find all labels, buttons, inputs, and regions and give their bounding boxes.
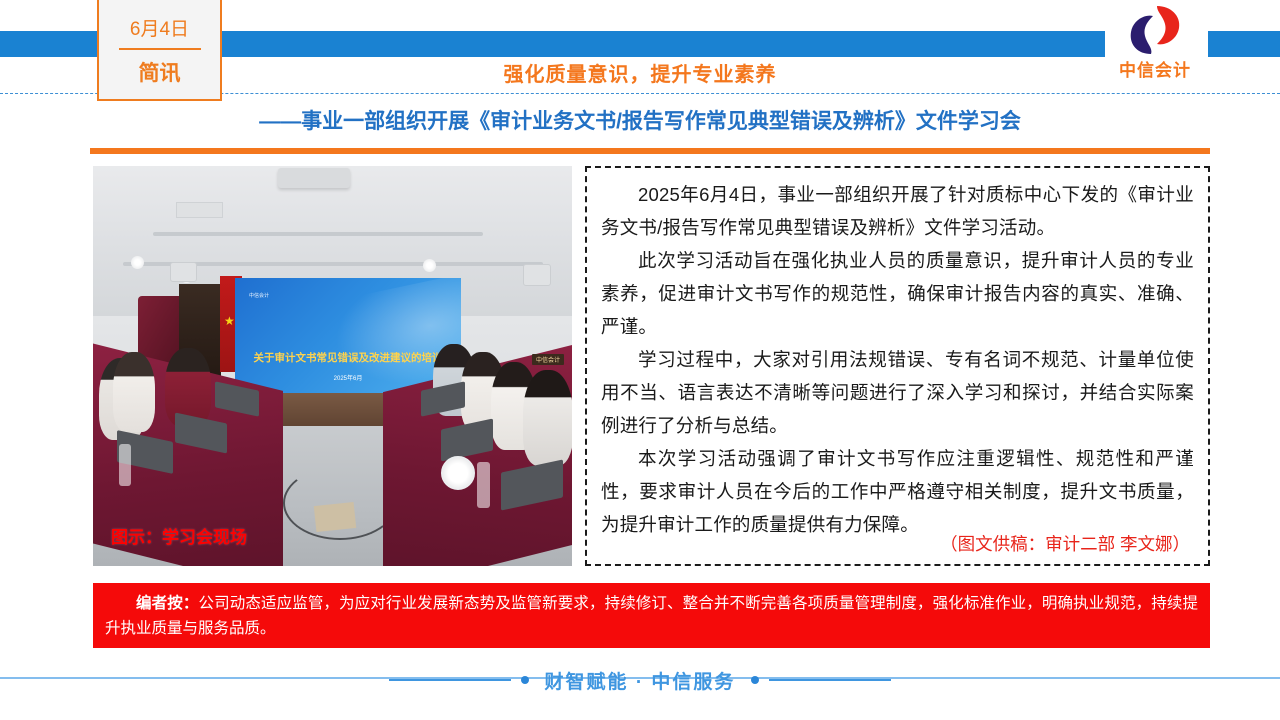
photo-water-bottle: [119, 444, 131, 486]
photo-flag-star-icon: ★: [224, 314, 235, 328]
photo-wall-speaker: [170, 262, 197, 282]
photo-attendee: [523, 370, 572, 466]
date-label: 6月4日: [130, 20, 189, 39]
photo-desk-fan: [441, 456, 475, 490]
photo-floor-box: [314, 502, 356, 532]
editor-note-lead: 编者按：: [136, 595, 198, 612]
header-orange-rule: [90, 148, 1210, 154]
bulletin-kind-label: 简讯: [139, 63, 181, 84]
logo-text: 中信会计: [1105, 56, 1205, 81]
event-photo: ★ 中信会计 关于审计文书常见错误及改进建议的培训 2025年6月 中信会计 图…: [93, 166, 572, 566]
footer-dot-left-icon: [521, 676, 529, 684]
photo-water-bottle: [477, 462, 490, 508]
photo-desk-plate: 中信会计: [532, 354, 564, 365]
photo-ceiling-vent: [176, 202, 223, 218]
page-header: 6月4日 简讯 强化质量意识，提升专业素养 中信会计 ——事业一部组织开展《审计…: [0, 0, 1280, 150]
photo-attendee: [113, 352, 155, 432]
article-paragraph: 本次学习活动强调了审计文书写作应注重逻辑性、规范性和严谨性，要求审计人员在今后的…: [601, 442, 1194, 541]
article-paragraph: 2025年6月4日，事业一部组织开展了针对质标中心下发的《审计业务文书/报告写作…: [601, 178, 1194, 244]
date-divider: [119, 48, 201, 50]
footer-slogan: 财智赋能 · 中信服务: [539, 667, 742, 694]
article-paragraph: 此次学习活动旨在强化执业人员的质量意识，提升审计人员的专业素养，促进审计文书写作…: [601, 244, 1194, 343]
photo-downlight: [423, 259, 436, 272]
header-blue-bar-right: [1208, 31, 1280, 57]
footer-rule-left: [389, 679, 511, 681]
footer-rule-right: [769, 679, 891, 681]
article-text-box: 2025年6月4日，事业一部组织开展了针对质标中心下发的《审计业务文书/报告写作…: [585, 166, 1210, 566]
editor-note-banner: 编者按：公司动态适应监管，为应对行业发展新态势及监管新要求，持续修订、整合并不断…: [93, 583, 1210, 648]
photo-screen-title: 关于审计文书常见错误及改进建议的培训: [235, 350, 461, 365]
article-credit: （图文供稿：审计二部 李文娜）: [940, 531, 1190, 556]
article-paragraph: 学习过程中，大家对引用法规错误、专有名词不规范、计量单位使用不当、语言表达不清晰…: [601, 343, 1194, 442]
header-blue-bar-left: [0, 31, 100, 57]
editor-note-text: 编者按：公司动态适应监管，为应对行业发展新态势及监管新要求，持续修订、整合并不断…: [105, 591, 1198, 641]
date-badge: 6月4日 简讯: [97, 0, 222, 101]
footer-dot-right-icon: [751, 676, 759, 684]
logo-swirl-icon: [1127, 4, 1183, 56]
page-footer: 财智赋能 · 中信服务: [0, 663, 1280, 697]
photo-downlight: [131, 256, 144, 269]
photo-caption: 图示：学习会现场: [111, 523, 247, 548]
photo-screen-logo: 中信会计: [249, 292, 269, 299]
company-logo: 中信会计: [1105, 2, 1205, 88]
photo-projection-screen: 中信会计 关于审计文书常见错误及改进建议的培训 2025年6月: [235, 278, 461, 394]
photo-projector: [278, 168, 350, 188]
photo-ceiling-line: [153, 232, 483, 236]
header-blue-bar-middle: [222, 31, 1105, 57]
editor-note-body: 公司动态适应监管，为应对行业发展新态势及监管新要求，持续修订、整合并不断完善各项…: [105, 595, 1198, 637]
photo-wall-speaker: [523, 264, 551, 286]
page-subtitle: ——事业一部组织开展《审计业务文书/报告写作常见典型错误及辨析》文件学习会: [0, 105, 1280, 135]
